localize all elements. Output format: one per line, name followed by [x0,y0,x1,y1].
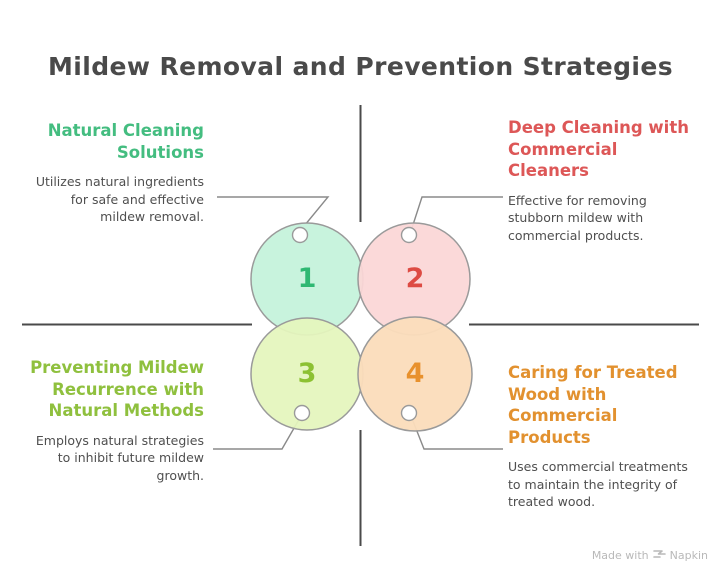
circle-number-4: 4 [395,360,435,387]
watermark-prefix: Made with [592,549,649,562]
quadrant-4: Caring for Treated Wood with Commercial … [508,362,702,511]
quadrant-1-heading: Natural Cleaning Solutions [24,120,204,163]
quadrant-2-heading: Deep Cleaning with Commercial Cleaners [508,117,698,182]
connector-ring-1 [293,228,308,243]
connector-ring-2 [402,228,417,243]
napkin-logo-icon [653,549,666,562]
leader-line-1 [217,197,328,231]
connector-ring-4 [402,406,417,421]
quadrant-4-description: Uses commercial treatments to maintain t… [508,458,702,511]
quadrant-3-description: Employs natural strategies to inhibit fu… [24,432,204,485]
circle-number-2: 2 [395,265,435,292]
quadrant-2: Deep Cleaning with Commercial Cleaners E… [508,117,698,244]
circle-number-3: 3 [287,360,327,387]
leader-line-3 [213,416,301,449]
watermark-brand: Napkin [670,549,708,562]
quadrant-1: Natural Cleaning Solutions Utilizes natu… [24,120,204,226]
page-title: Mildew Removal and Prevention Strategies [0,52,721,81]
quadrant-3-heading: Preventing Mildew Recurrence with Natura… [24,357,204,422]
connector-ring-3 [295,406,310,421]
circle-number-1: 1 [287,265,327,292]
napkin-watermark: Made with Napkin [592,549,708,562]
quadrant-1-description: Utilizes natural ingredients for safe an… [24,173,204,226]
leader-line-4 [411,416,503,449]
quadrant-3: Preventing Mildew Recurrence with Natura… [24,357,204,484]
quadrant-4-heading: Caring for Treated Wood with Commercial … [508,362,702,448]
quadrant-2-description: Effective for removing stubborn mildew w… [508,192,698,245]
leader-line-2 [411,197,503,231]
infographic-canvas: Mildew Removal and Prevention Strategies… [0,0,721,576]
